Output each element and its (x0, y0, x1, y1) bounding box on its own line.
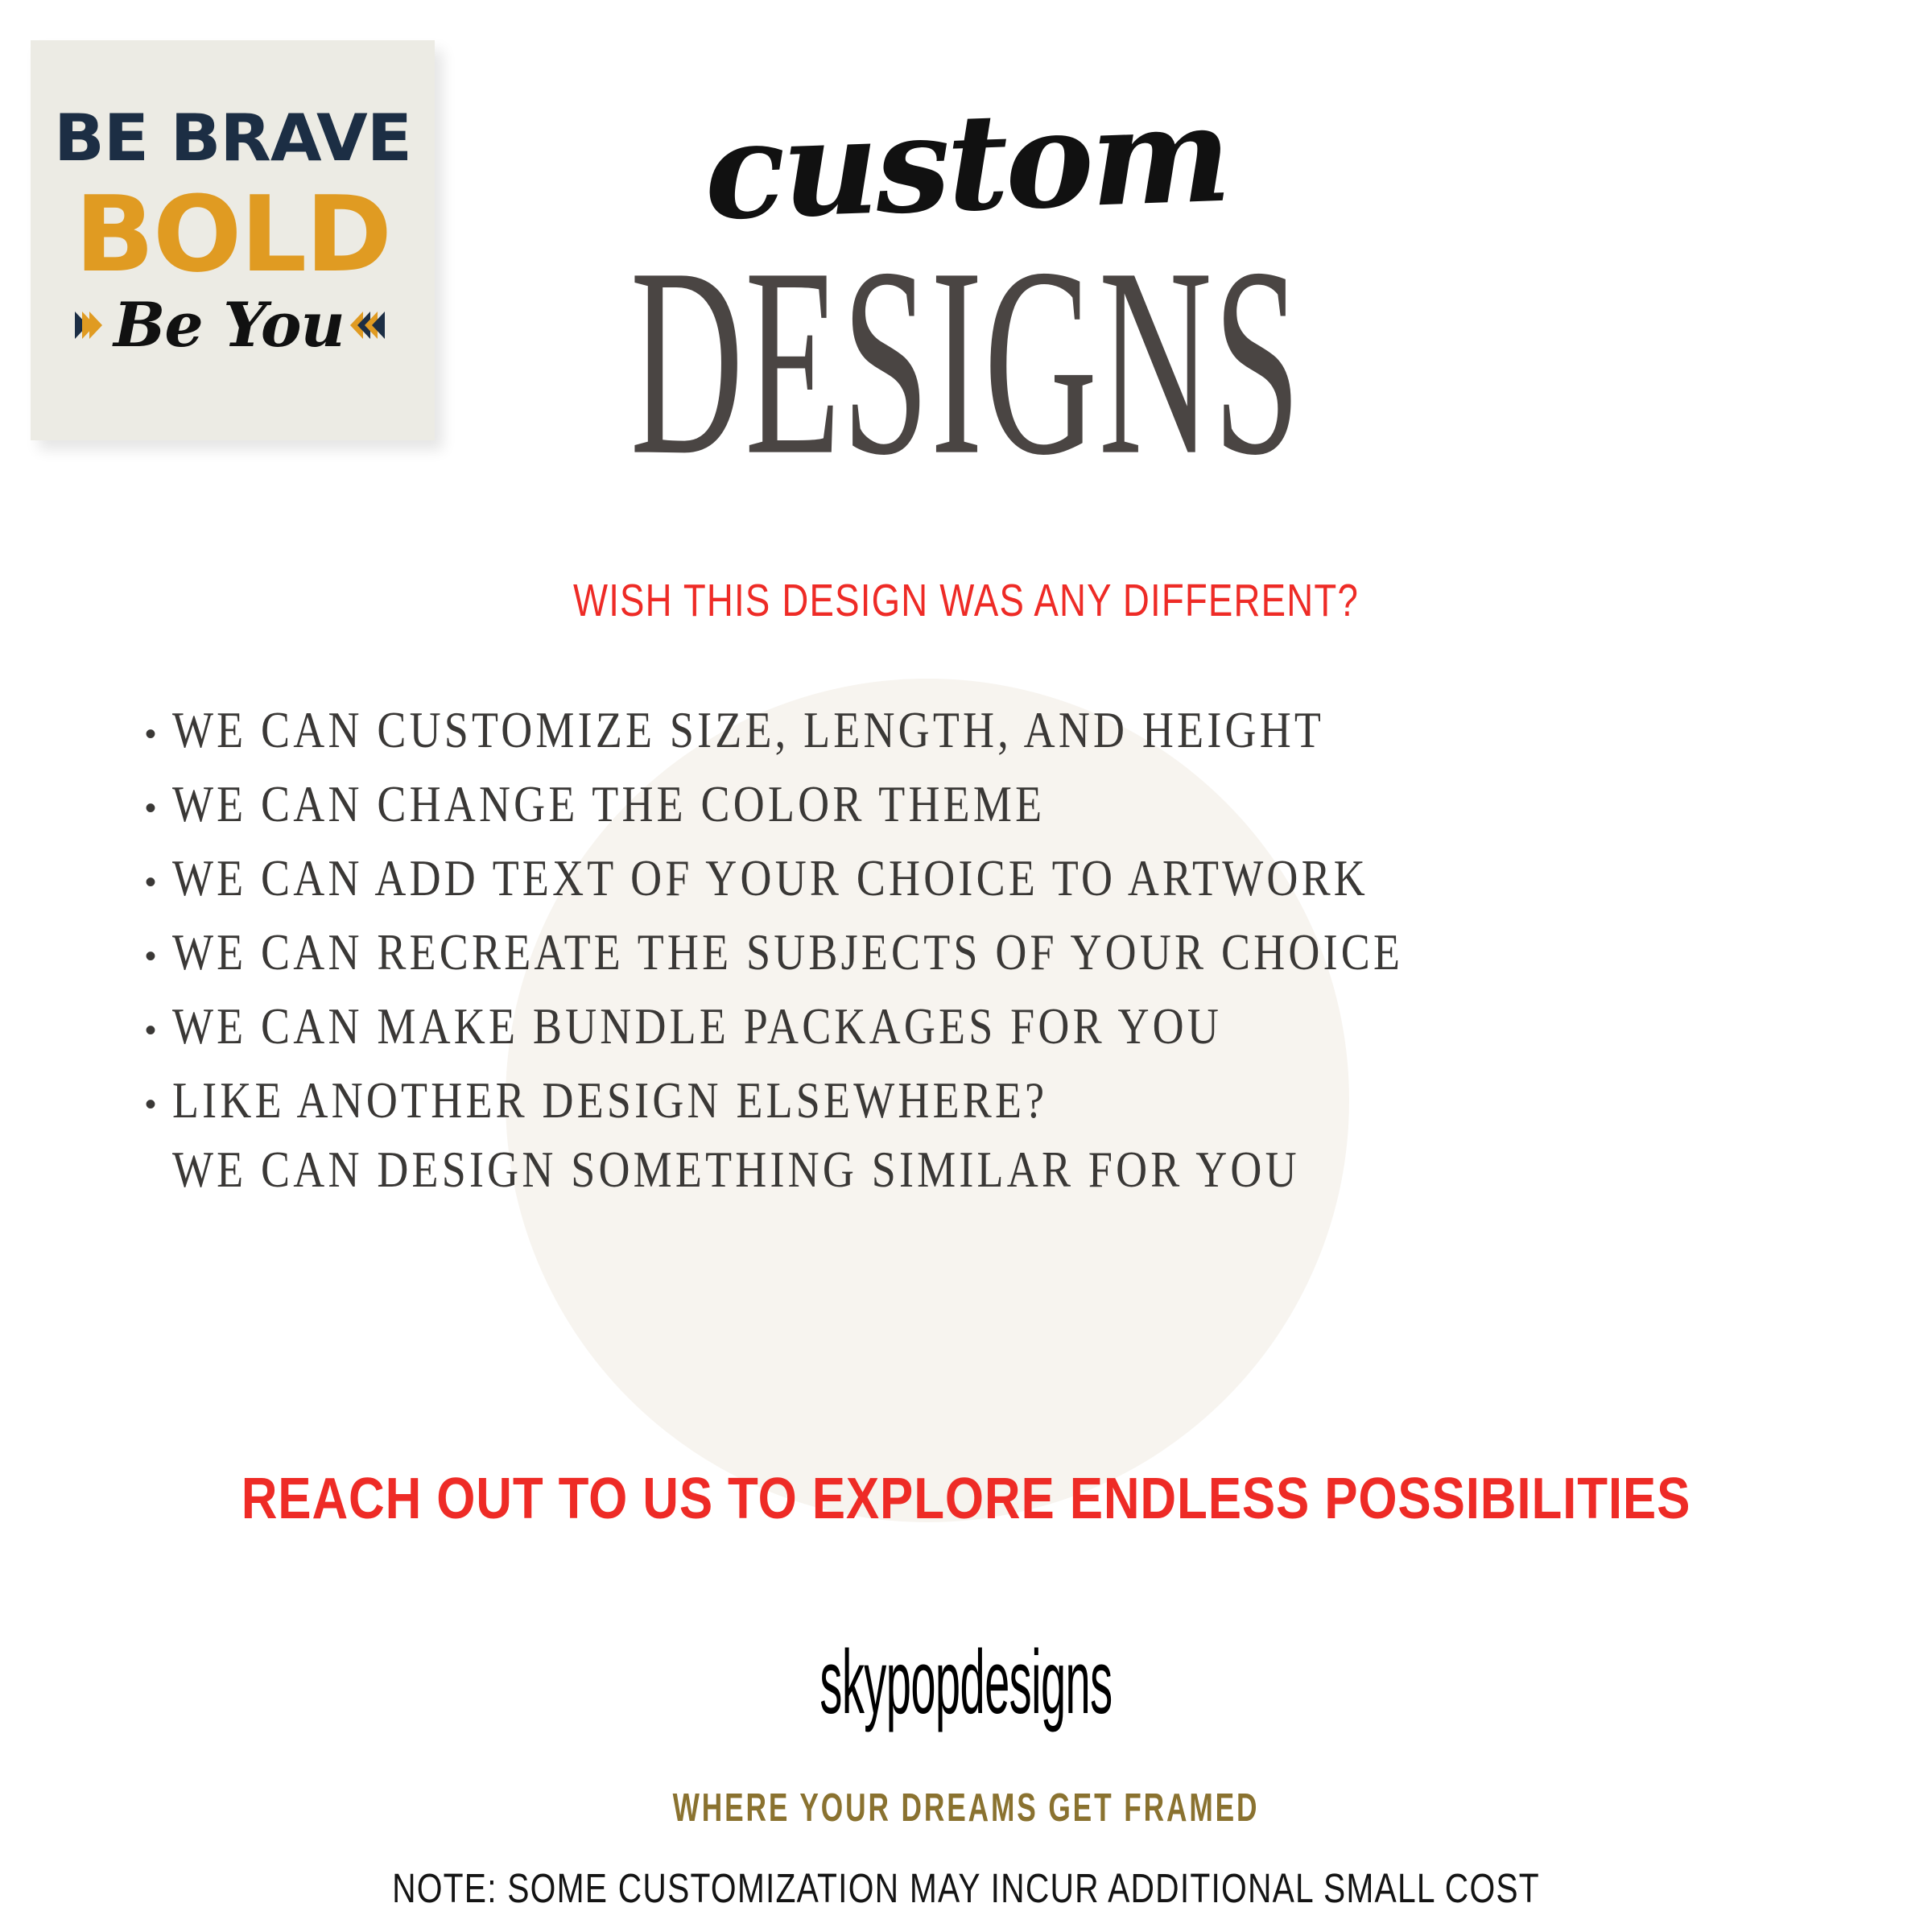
bullet-dot-icon: • (145, 866, 172, 898)
list-item: • WE CAN RECREATE THE SUBJECTS OF YOUR C… (145, 931, 1835, 974)
product-thumbnail-card: BE BRAVE BOLD Be You (31, 40, 435, 440)
list-item: • WE CAN CUSTOMIZE SIZE, LENGTH, AND HEI… (145, 708, 1835, 752)
list-item: • WE CAN ADD TEXT OF YOUR CHOICE TO ARTW… (145, 857, 1835, 900)
list-item-label: WE CAN MAKE BUNDLE PACKAGES FOR YOU (172, 1001, 1222, 1052)
headline-subtitle: WISH THIS DESIGN WAS ANY DIFFERENT? (193, 578, 1739, 624)
thumbnail-line-be-you-row: Be You (31, 295, 435, 356)
thumbnail-line-bold: BOLD (31, 182, 435, 287)
product-thumbnail-artwork: BE BRAVE BOLD Be You (31, 40, 435, 440)
thumbnail-line-be-brave: BE BRAVE (31, 106, 435, 171)
thumbnail-script-be-you: Be You (109, 295, 349, 356)
call-to-action-text: REACH OUT TO US TO EXPLORE ENDLESS POSSI… (135, 1470, 1797, 1528)
list-item: • WE CAN MAKE BUNDLE PACKAGES FOR YOU (145, 1005, 1835, 1048)
list-item: • LIKE ANOTHER DESIGN ELSEWHERE? (145, 1079, 1835, 1122)
chevrons-left-icon (356, 312, 385, 339)
list-item-label: WE CAN CHANGE THE COLOR THEME (172, 778, 1045, 830)
bullet-dot-icon: • (145, 1014, 172, 1046)
list-item-label: WE CAN RECREATE THE SUBJECTS OF YOUR CHO… (172, 927, 1403, 978)
list-item-label: LIKE ANOTHER DESIGN ELSEWHERE? (172, 1075, 1047, 1126)
list-item-label: WE CAN ADD TEXT OF YOUR CHOICE TO ARTWOR… (172, 852, 1368, 904)
brand-name: skypopdesigns (425, 1637, 1507, 1728)
footer-note: NOTE: SOME CUSTOMIZATION MAY INCUR ADDIT… (193, 1868, 1739, 1909)
bullet-dot-icon: • (145, 718, 172, 750)
bullet-dot-icon: • (145, 940, 172, 972)
page-title-designs: DESIGNS (213, 234, 1719, 490)
brand-tagline: WHERE YOUR DREAMS GET FRAMED (270, 1789, 1662, 1828)
chevrons-right-icon (80, 312, 102, 339)
list-item-continuation-label: WE CAN DESIGN SOMETHING SIMILAR FOR YOU (172, 1144, 1300, 1195)
bullet-dot-icon: • (145, 792, 172, 824)
bullet-dot-icon: • (145, 1088, 172, 1121)
list-item-label: WE CAN CUSTOMIZE SIZE, LENGTH, AND HEIGH… (172, 704, 1324, 756)
list-item: • WE CAN CHANGE THE COLOR THEME (145, 782, 1835, 826)
feature-bullet-list: • WE CAN CUSTOMIZE SIZE, LENGTH, AND HEI… (145, 708, 1835, 1216)
list-item-continuation: WE CAN DESIGN SOMETHING SIMILAR FOR YOU (172, 1148, 1835, 1191)
